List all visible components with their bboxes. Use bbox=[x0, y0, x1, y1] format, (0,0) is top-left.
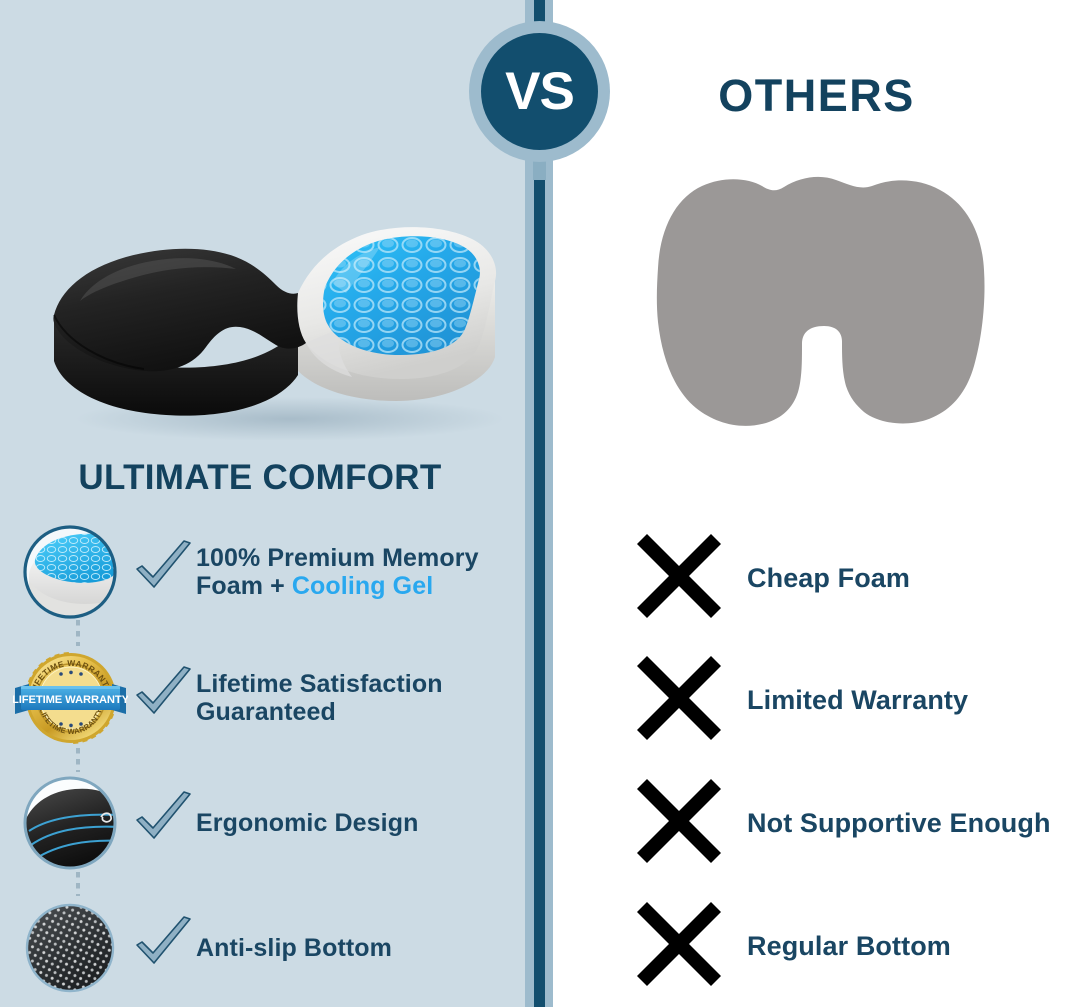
drawback-label-cheap-foam: Cheap Foam bbox=[747, 563, 910, 594]
feature-line1: Ergonomic Design bbox=[196, 809, 418, 837]
ultimate-comfort-heading: ULTIMATE COMFORT bbox=[0, 458, 520, 498]
premium-cushion-image bbox=[40, 175, 510, 440]
feature-line2-prefix: Guaranteed bbox=[196, 698, 336, 726]
check-icon bbox=[134, 790, 196, 853]
comparison-infographic: VS OTHERS bbox=[0, 0, 1080, 1007]
feature-row-ergonomic-design: Ergonomic Design bbox=[0, 763, 525, 883]
check-icon bbox=[134, 915, 196, 978]
feature-label-lifetime-warranty: Lifetime Satisfaction Guaranteed bbox=[196, 670, 443, 726]
feature-line2-accent: Cooling Gel bbox=[292, 572, 433, 600]
others-heading: OTHERS bbox=[553, 70, 1080, 122]
check-icon bbox=[134, 665, 196, 728]
seal-ribbon-text: LIFETIME WARRANTY bbox=[13, 694, 128, 706]
gel-cushion-thumbnail bbox=[13, 518, 128, 626]
x-icon bbox=[631, 896, 727, 997]
drawback-row-regular-bottom: Regular Bottom bbox=[553, 886, 1080, 1006]
feature-line1: Anti-slip Bottom bbox=[196, 934, 392, 962]
drawback-row-cheap-foam: Cheap Foam bbox=[553, 518, 1080, 638]
drawback-row-not-supportive: Not Supportive Enough bbox=[553, 763, 1080, 883]
x-icon bbox=[631, 650, 727, 751]
check-icon bbox=[134, 539, 196, 602]
x-icon bbox=[631, 528, 727, 629]
x-icon bbox=[631, 773, 727, 874]
drawback-label-limited-warranty: Limited Warranty bbox=[747, 685, 968, 716]
drawback-label-not-supportive: Not Supportive Enough bbox=[747, 808, 1051, 839]
feature-line1: 100% Premium Memory bbox=[196, 544, 479, 572]
anti-slip-texture-thumbnail bbox=[13, 894, 128, 1002]
feature-row-anti-slip-bottom: Anti-slip Bottom bbox=[0, 888, 525, 1008]
competitor-cushion-image bbox=[620, 150, 1040, 470]
feature-line1: Lifetime Satisfaction bbox=[196, 670, 443, 698]
drawback-label-regular-bottom: Regular Bottom bbox=[747, 931, 951, 962]
feature-row-memory-foam: 100% Premium Memory Foam + Cooling Gel bbox=[0, 512, 525, 632]
drawback-row-limited-warranty: Limited Warranty bbox=[553, 640, 1080, 760]
feature-label-ergonomic-design: Ergonomic Design bbox=[196, 809, 418, 837]
lifetime-warranty-seal: LIFETIME WARRANTY LIFETIME WARRANTY LIFE… bbox=[13, 644, 128, 752]
feature-label-memory-foam: 100% Premium Memory Foam + Cooling Gel bbox=[196, 544, 479, 600]
feature-line2-prefix: Foam + bbox=[196, 572, 292, 600]
feature-label-anti-slip-bottom: Anti-slip Bottom bbox=[196, 934, 392, 962]
ergonomic-contour-thumbnail bbox=[13, 769, 128, 877]
feature-row-lifetime-warranty: LIFETIME WARRANTY LIFETIME WARRANTY LIFE… bbox=[0, 638, 525, 758]
